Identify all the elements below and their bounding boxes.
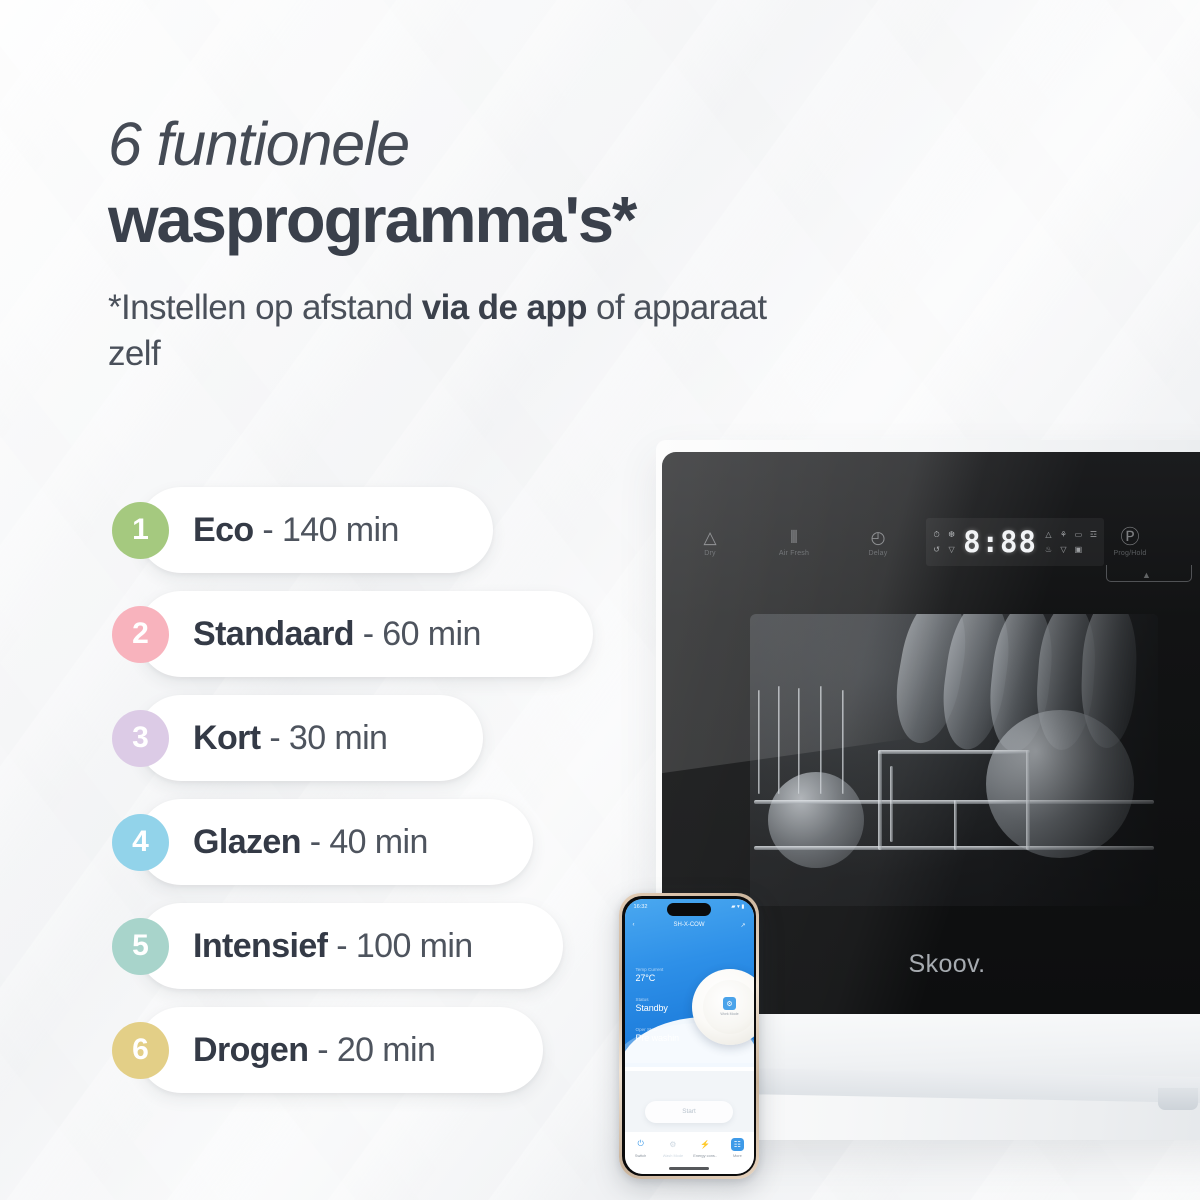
digital-display: ⏱❆↺▽ 8:88 △⚘▭☲♨▽▣ <box>926 518 1104 566</box>
control-right-buttons: ⓅProg/Hold▷⏻ ▲ <box>1104 527 1200 557</box>
display-right-icons: △⚘▭☲♨▽▣ <box>1043 528 1099 556</box>
program-text: Glazen - 40 min <box>193 823 428 862</box>
program-name: Eco <box>193 511 254 549</box>
panel-button[interactable]: △Dry <box>684 527 736 557</box>
work-mode-icon: ⚙ <box>723 997 736 1010</box>
rack-tine <box>798 688 800 794</box>
program-duration: - 40 min <box>310 823 428 861</box>
app-tab[interactable]: ⚙Wash Mode <box>657 1138 689 1158</box>
app-tab-label: Energy cons.. <box>693 1153 717 1158</box>
rack-tine <box>842 690 844 794</box>
stat-value: Standby <box>636 1003 668 1013</box>
program-name: Glazen <box>193 823 301 861</box>
program-duration: - 30 min <box>269 719 387 757</box>
control-panel: △Dry⦀Air Fresh◴Delay ⏱❆↺▽ 8:88 △⚘▭☲♨▽▣ Ⓟ… <box>662 508 1200 576</box>
display-icon: ⏱ <box>933 531 939 539</box>
phone-notch <box>667 903 711 916</box>
stat-label: Status <box>636 997 668 1002</box>
utensil <box>890 766 893 842</box>
headline-block: 6 funtionele wasprogramma's* *Instellen … <box>108 112 868 377</box>
bowl <box>768 772 864 868</box>
statusbar-indicators: ▰ ▾ ▮ <box>731 904 744 910</box>
stat-label: Temp Current <box>636 967 664 972</box>
panel-button[interactable]: ▷ <box>1186 531 1200 554</box>
program-duration: - 140 min <box>262 511 398 549</box>
subtitle-prefix: *Instellen op afstand <box>108 288 422 327</box>
start-button[interactable]: Start <box>645 1101 733 1123</box>
program-name: Kort <box>193 719 260 757</box>
program-name: Intensief <box>193 927 327 965</box>
program-duration: - 60 min <box>363 615 481 653</box>
panel-button-icon: △ <box>703 527 716 547</box>
home-indicator <box>669 1167 709 1170</box>
rack-tine <box>758 690 760 794</box>
program-number-badge: 1 <box>112 502 169 559</box>
stat-operating-state: Oper State Pre washin <box>636 1027 680 1044</box>
tub-interior <box>750 614 1158 906</box>
rack-divider <box>954 800 957 850</box>
page-title: wasprogramma's* <box>108 184 868 257</box>
program-number-badge: 6 <box>112 1022 169 1079</box>
stat-status: Status Standby <box>636 997 668 1014</box>
program-row: 4Glazen - 40 min <box>112 799 481 885</box>
display-icon: ▣ <box>1075 546 1083 554</box>
panel-button-icon: ◴ <box>871 527 886 547</box>
display-icon: ▽ <box>949 546 955 554</box>
display-icon: ▽ <box>1060 546 1066 554</box>
app-tab[interactable]: ⚡Energy cons.. <box>689 1138 721 1158</box>
statusbar-time: 16:32 <box>634 904 648 910</box>
stat-temperature: Temp Current 27°C <box>636 967 664 984</box>
wifi-icon: ▲ <box>1142 571 1151 580</box>
rack-tine <box>820 686 822 794</box>
program-text: Standaard - 60 min <box>193 615 481 654</box>
work-mode-label: Work Mode <box>720 1012 738 1016</box>
app-device-title: SH-X-COW <box>674 922 705 928</box>
display-icon: △ <box>1045 531 1051 539</box>
app-tab-label: Switch <box>635 1153 646 1158</box>
panel-button-icon: Ⓟ <box>1120 527 1139 547</box>
app-tab[interactable]: ☷More <box>721 1138 753 1158</box>
display-icon: ❆ <box>948 531 955 539</box>
display-icon: ♨ <box>1045 546 1052 554</box>
app-tab-icon: ⚡ <box>699 1138 712 1151</box>
program-row: 5Intensief - 100 min <box>112 903 481 989</box>
program-text: Kort - 30 min <box>193 719 387 758</box>
app-tab-icon: ⚙ <box>666 1138 679 1151</box>
program-duration: - 20 min <box>317 1031 435 1069</box>
program-row: 3Kort - 30 min <box>112 695 481 781</box>
panel-button[interactable]: ⦀Air Fresh <box>768 527 820 557</box>
program-number-badge: 2 <box>112 606 169 663</box>
phone-screen: 16:32 ▰ ▾ ▮ ‹ SH-X-COW ↗ Temp Current 27… <box>625 899 754 1174</box>
program-name: Drogen <box>193 1031 308 1069</box>
tub-shadow <box>987 614 1158 906</box>
panel-button-label: Prog/Hold <box>1114 550 1147 557</box>
app-navbar: ‹ SH-X-COW ↗ <box>625 918 754 933</box>
app-tab-icon: ☷ <box>731 1138 744 1151</box>
program-list: 1Eco - 140 min2Standaard - 60 min3Kort -… <box>112 487 481 1111</box>
program-number-badge: 5 <box>112 918 169 975</box>
display-icon: ▭ <box>1075 531 1083 539</box>
panel-button-icon: ⦀ <box>790 527 797 547</box>
app-tab-icon: ⏻ <box>634 1138 647 1151</box>
app-tab-label: Wash Mode <box>663 1153 684 1158</box>
program-duration: - 100 min <box>336 927 472 965</box>
program-number-badge: 3 <box>112 710 169 767</box>
kicker-text: 6 funtionele <box>108 112 868 176</box>
panel-button[interactable]: ⓅProg/Hold <box>1104 527 1156 557</box>
stat-label: Oper State <box>636 1027 680 1032</box>
app-tab-label: More <box>733 1153 742 1158</box>
program-row: 1Eco - 140 min <box>112 487 481 573</box>
display-icon: ↺ <box>933 546 940 554</box>
rack-handle-left <box>878 750 882 850</box>
program-name: Standaard <box>193 615 354 653</box>
back-icon[interactable]: ‹ <box>633 922 635 928</box>
stat-value: 27°C <box>636 973 664 983</box>
panel-button[interactable]: ◴Delay <box>852 527 904 557</box>
promo-graphic: 6 funtionele wasprogramma's* *Instellen … <box>0 0 1200 1200</box>
panel-button-label: Delay <box>869 550 888 557</box>
program-text: Intensief - 100 min <box>193 927 473 966</box>
program-row: 2Standaard - 60 min <box>112 591 481 677</box>
panel-button-label: Dry <box>704 550 716 557</box>
panel-button-label: Air Fresh <box>779 550 809 557</box>
stat-value: Pre washin <box>636 1033 680 1043</box>
subtitle-emphasis: via de app <box>422 288 587 327</box>
dial-inner: ⚙ Work Mode <box>703 980 754 1034</box>
display-icon: ☲ <box>1090 531 1097 539</box>
app-tab[interactable]: ⏻Switch <box>625 1138 657 1158</box>
appliance-foot-right <box>1158 1088 1198 1110</box>
share-icon[interactable]: ↗ <box>740 922 745 929</box>
control-left-buttons: △Dry⦀Air Fresh◴Delay <box>684 527 904 557</box>
display-readout: 8:88 <box>963 528 1037 557</box>
rack-tine <box>778 686 780 794</box>
program-number-badge: 4 <box>112 814 169 871</box>
program-text: Eco - 140 min <box>193 511 399 550</box>
display-icon: ⚘ <box>1060 531 1067 539</box>
program-text: Drogen - 20 min <box>193 1031 435 1070</box>
display-left-icons: ⏱❆↺▽ <box>931 528 957 556</box>
smartphone-mockup: 16:32 ▰ ▾ ▮ ‹ SH-X-COW ↗ Temp Current 27… <box>619 893 759 1179</box>
program-row: 6Drogen - 20 min <box>112 1007 481 1093</box>
subtitle-text: *Instellen op afstand via de app of appa… <box>108 285 808 377</box>
